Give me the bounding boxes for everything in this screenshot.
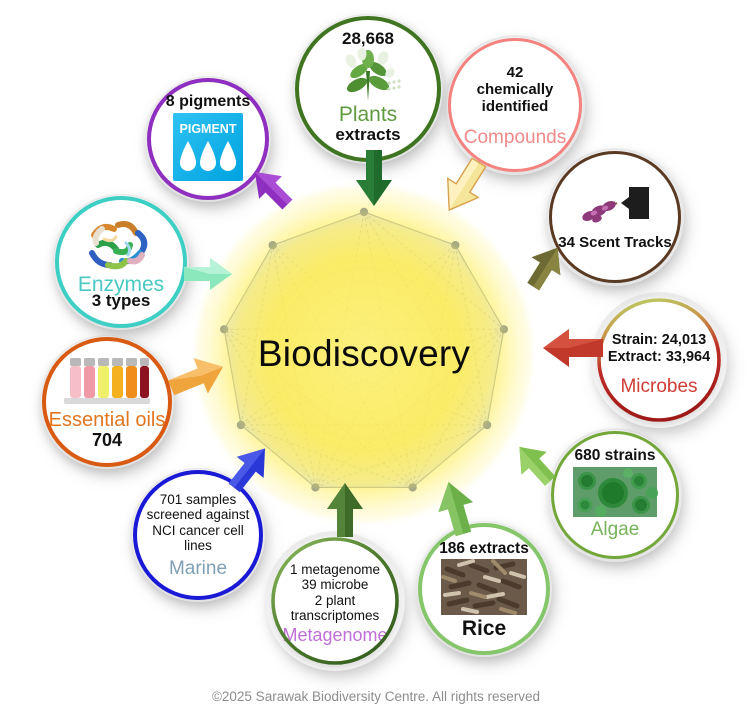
infographic-canvas: Biodiscovery 28,668 <box>0 0 752 720</box>
node-metagenome[interactable]: 1 metagenome 39 microbe 2 plant transcri… <box>271 537 399 665</box>
rice-grains-icon <box>441 559 527 615</box>
arrow-enzymes <box>184 256 234 292</box>
plants-sublabel: extracts <box>335 126 400 145</box>
plants-label: Plants <box>339 103 397 126</box>
arrow-rice <box>434 479 478 537</box>
oils-count: 704 <box>92 431 122 451</box>
arrow-marine <box>226 443 278 497</box>
oils-label: Essential oils <box>49 409 166 431</box>
metagenome-ring <box>271 537 399 665</box>
microbes-ring <box>597 298 721 422</box>
node-microbes[interactable]: Strain: 24,013 Extract: 33,964 Microbes <box>597 298 721 422</box>
marine-count: 701 samples screened against NCI cancer … <box>137 492 259 552</box>
arrow-compounds <box>440 158 486 218</box>
algae-cells-icon <box>573 467 657 517</box>
algae-count: 680 strains <box>575 447 656 464</box>
scent-count: 34 Scent Tracks <box>558 235 671 252</box>
lavender-spray-icon <box>577 183 653 231</box>
compounds-count: 42 chemically identified <box>477 65 554 115</box>
arrow-microbes <box>541 328 603 368</box>
pigment-icon-text: PIGMENT <box>180 122 237 136</box>
arrow-algae <box>511 437 563 487</box>
arrow-scent <box>514 238 570 292</box>
copyright-footer: ©2025 Sarawak Biodiversity Centre. All r… <box>0 689 752 704</box>
pigments-count: 8 pigments <box>166 93 250 111</box>
arrow-pigments <box>246 165 292 213</box>
node-enzymes[interactable]: Enzymes 3 types <box>55 196 187 328</box>
node-algae[interactable]: 680 strains Algae <box>551 431 679 559</box>
node-compounds[interactable]: 42 chemically identified Compounds <box>448 38 582 172</box>
enzymes-count: 3 types <box>92 292 151 311</box>
protein-ribbon-icon <box>82 215 160 277</box>
compounds-label: Compounds <box>464 128 566 149</box>
algae-label: Algae <box>591 520 640 541</box>
plant-sprig-icon <box>333 49 403 103</box>
rice-label: Rice <box>462 617 506 640</box>
plants-count: 28,668 <box>342 29 394 48</box>
rice-count: 186 extracts <box>439 540 529 557</box>
oil-vials-icon <box>62 352 152 408</box>
marine-label: Marine <box>169 559 227 580</box>
node-plants[interactable]: 28,668 Plants extracts <box>295 16 441 162</box>
arrow-metagenome <box>323 481 367 539</box>
pigment-droplets-icon: PIGMENT <box>173 113 243 181</box>
arrow-essential-oils <box>169 355 227 399</box>
arrow-plants <box>352 150 396 210</box>
node-rice[interactable]: 186 extracts <box>418 523 550 655</box>
node-essential-oils[interactable]: Essential oils 704 <box>42 337 172 467</box>
